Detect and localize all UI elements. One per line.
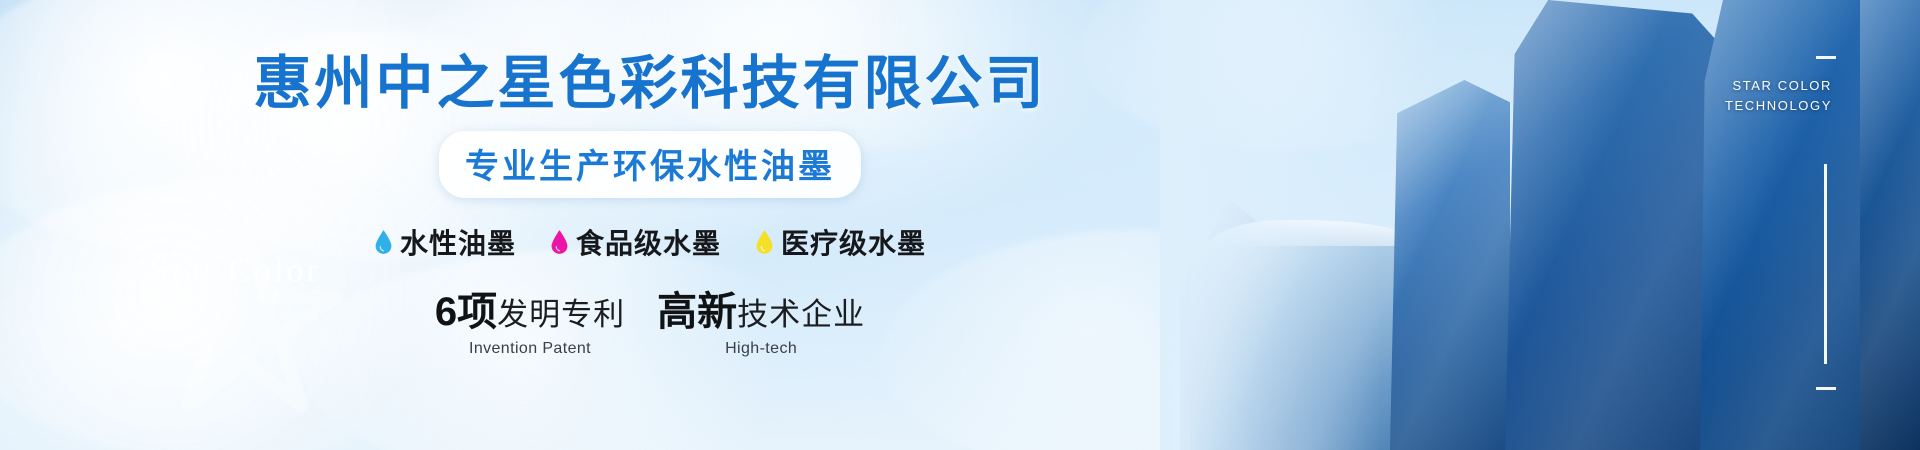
badge-chinese: 6项发明专利	[435, 292, 625, 332]
badge-chinese: 高新技术企业	[657, 292, 865, 332]
building-far-right	[1860, 0, 1920, 450]
building-brand-line1: STAR COLOR	[1725, 76, 1832, 96]
badge-rest-text: 技术企业	[737, 297, 865, 332]
badge-list: 6项发明专利 Invention Patent 高新技术企业 High-tech	[435, 292, 865, 358]
subtitle-pill: 专业生产环保水性油墨	[439, 131, 861, 198]
accent-tick-bottom	[1816, 387, 1836, 390]
building-center-tower	[1390, 80, 1510, 450]
feature-label: 医疗级水墨	[781, 222, 926, 262]
company-title: 惠州中之星色彩科技有限公司	[253, 54, 1046, 115]
badge-rest-text: 发明专利	[497, 297, 625, 332]
subtitle-text: 专业生产环保水性油墨	[465, 139, 835, 188]
badge-invention-patent: 6项发明专利 Invention Patent	[435, 292, 625, 358]
water-drop-icon	[550, 229, 569, 255]
feature-item: 食品级水墨	[550, 222, 721, 262]
feature-label: 水性油墨	[400, 222, 516, 262]
badge-english: Invention Patent	[435, 340, 625, 358]
feature-list: 水性油墨 食品级水墨 医疗级水墨	[374, 222, 926, 262]
badge-high-tech: 高新技术企业 High-tech	[657, 292, 865, 358]
feature-item: 医疗级水墨	[755, 222, 926, 262]
banner-content: 惠州中之星色彩科技有限公司 专业生产环保水性油墨 水性油墨	[0, 0, 1300, 450]
promo-banner: Star Color STAR COLOR TECHNOLOGY 惠州中之星色彩…	[0, 0, 1920, 450]
badge-strong-text: 高新	[657, 290, 737, 334]
water-drop-icon	[374, 229, 393, 255]
accent-vertical-line	[1824, 164, 1827, 364]
water-drop-icon	[755, 229, 774, 255]
badge-english: High-tech	[657, 340, 865, 358]
building-brand-line2: TECHNOLOGY	[1725, 96, 1832, 116]
accent-tick-top	[1816, 56, 1836, 59]
feature-label: 食品级水墨	[576, 222, 721, 262]
badge-strong-text: 6项	[435, 290, 497, 334]
building-brand-label: STAR COLOR TECHNOLOGY	[1725, 76, 1832, 116]
feature-item: 水性油墨	[374, 222, 516, 262]
